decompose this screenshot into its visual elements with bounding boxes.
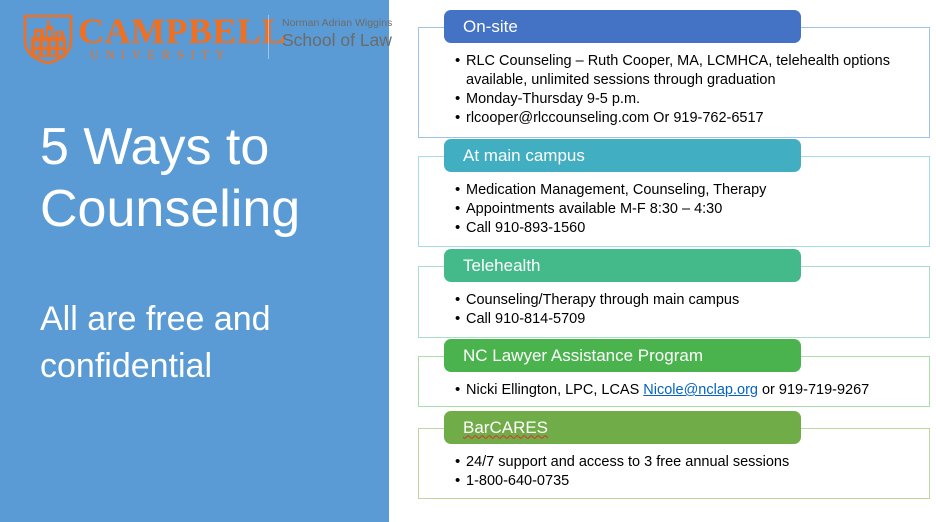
card-barcares-title: BarCARES <box>463 418 548 438</box>
campbell-wordmark: CAMPBELL UNIVERSITY <box>78 14 256 62</box>
contact-suffix: or 919-719-9267 <box>758 382 869 398</box>
email-link[interactable]: Nicole@nclap.org <box>643 382 758 398</box>
left-panel: CAMPBELL UNIVERSITY Norman Adrian Wiggin… <box>0 0 389 522</box>
bullet-list: 24/7 support and access to 3 free annual… <box>455 453 917 491</box>
school-of-law-lockup: Norman Adrian Wiggins School of Law <box>282 16 412 51</box>
slide-canvas: CAMPBELL UNIVERSITY Norman Adrian Wiggin… <box>0 0 936 522</box>
card-onsite: On-site RLC Counseling – Ruth Cooper, MA… <box>418 27 930 138</box>
card-at-main-campus-header: At main campus <box>444 139 801 172</box>
bullet-list: Medication Management, Counseling, Thera… <box>455 181 917 238</box>
list-item: Nicki Ellington, LPC, LCAS Nicole@nclap.… <box>455 381 917 400</box>
card-nc-lawyer-assistance-program-header: NC Lawyer Assistance Program <box>444 339 801 372</box>
list-item: Call 910-893-1560 <box>455 219 917 238</box>
school-name-line2: School of Law <box>282 30 412 51</box>
shield-building-icon <box>22 13 74 65</box>
counseling-options-list: On-site RLC Counseling – Ruth Cooper, MA… <box>418 0 936 522</box>
card-onsite-title: On-site <box>463 17 518 37</box>
school-name-line1: Norman Adrian Wiggins <box>282 16 412 30</box>
card-barcares: BarCARES 24/7 support and access to 3 fr… <box>418 428 930 499</box>
list-item: Call 910-814-5709 <box>455 310 917 329</box>
logo-divider <box>268 15 269 59</box>
card-telehealth-title: Telehealth <box>463 256 541 276</box>
list-item: RLC Counseling – Ruth Cooper, MA, LCMHCA… <box>455 52 917 90</box>
bullet-list: Nicki Ellington, LPC, LCAS Nicole@nclap.… <box>455 381 917 400</box>
contact-prefix: Nicki Ellington, LPC, LCAS <box>466 382 643 398</box>
bullet-list: Counseling/Therapy through main campus C… <box>455 291 917 329</box>
slide-title: 5 Ways to Counseling <box>40 116 380 240</box>
bullet-list: RLC Counseling – Ruth Cooper, MA, LCMHCA… <box>455 52 917 128</box>
list-item: rlcooper@rlccounseling.com Or 919-762-65… <box>455 109 917 128</box>
list-item: Appointments available M-F 8:30 – 4:30 <box>455 200 917 219</box>
card-nc-lawyer-assistance-program: NC Lawyer Assistance Program Nicki Ellin… <box>418 356 930 407</box>
card-telehealth: Telehealth Counseling/Therapy through ma… <box>418 266 930 338</box>
card-barcares-header: BarCARES <box>444 411 801 444</box>
card-nc-lawyer-assistance-program-title: NC Lawyer Assistance Program <box>463 346 703 366</box>
list-item: Monday-Thursday 9-5 p.m. <box>455 90 917 109</box>
list-item: 24/7 support and access to 3 free annual… <box>455 453 917 472</box>
wordmark-university: UNIVERSITY <box>78 48 256 62</box>
card-at-main-campus-title: At main campus <box>463 146 585 166</box>
campbell-law-logo-lockup: CAMPBELL UNIVERSITY Norman Adrian Wiggin… <box>22 12 382 64</box>
list-item: Counseling/Therapy through main campus <box>455 291 917 310</box>
card-telehealth-header: Telehealth <box>444 249 801 282</box>
slide-subtitle: All are free and confidential <box>40 296 380 390</box>
card-at-main-campus: At main campus Medication Management, Co… <box>418 156 930 247</box>
list-item: Medication Management, Counseling, Thera… <box>455 181 917 200</box>
list-item: 1-800-640-0735 <box>455 472 917 491</box>
card-onsite-body: RLC Counseling – Ruth Cooper, MA, LCMHCA… <box>419 28 929 140</box>
wordmark-campbell: CAMPBELL <box>78 14 256 48</box>
card-onsite-header: On-site <box>444 10 801 43</box>
